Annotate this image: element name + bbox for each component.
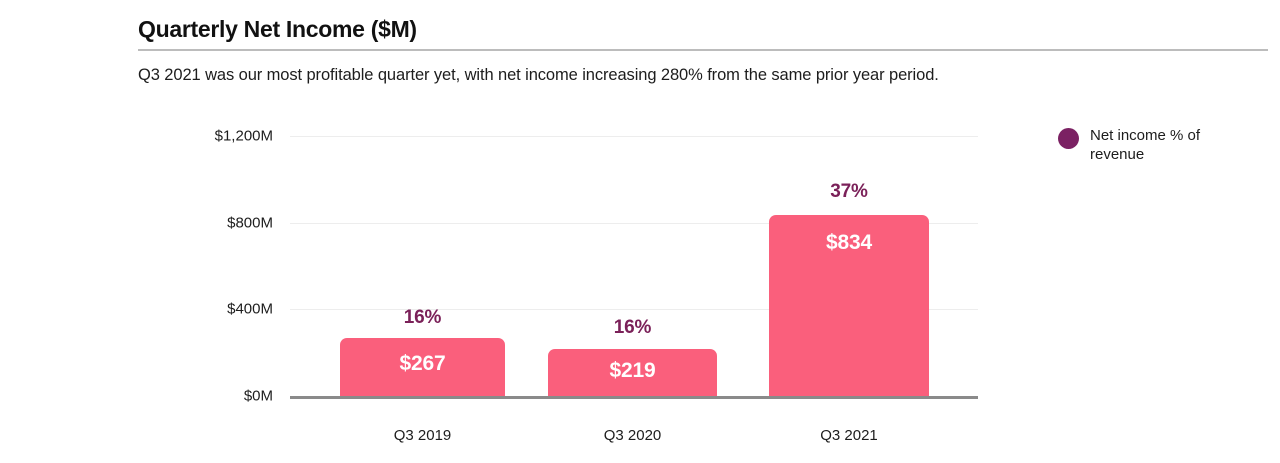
chart-legend: Net income % of revenue — [1058, 126, 1210, 164]
bar-percent-label: 16% — [548, 317, 717, 339]
title-divider — [138, 49, 1268, 51]
axis-baseline — [290, 396, 978, 399]
page-title: Quarterly Net Income ($M) — [138, 16, 417, 43]
bar-value-label: $834 — [769, 231, 929, 255]
bar-group: 16% $267 Q3 2019 — [340, 136, 505, 396]
x-tick-label: Q3 2020 — [518, 427, 747, 444]
chart-page: Quarterly Net Income ($M) Q3 2021 was ou… — [0, 0, 1280, 463]
legend-label: Net income % of revenue — [1090, 126, 1210, 164]
bar-percent-label: 16% — [340, 307, 505, 329]
y-axis: $1,200M $800M $400M $0M — [138, 136, 273, 396]
x-tick-label: Q3 2019 — [310, 427, 535, 444]
bar-value-label: $267 — [340, 352, 505, 376]
y-tick-label: $0M — [244, 388, 273, 405]
chart-subtitle: Q3 2021 was our most profitable quarter … — [138, 66, 939, 85]
bar[interactable]: $219 — [548, 349, 717, 396]
bar-percent-label: 37% — [769, 181, 929, 203]
bar-group: 37% $834 Q3 2021 — [769, 136, 929, 396]
bar[interactable]: $834 — [769, 215, 929, 396]
y-tick-label: $800M — [227, 214, 273, 231]
x-tick-label: Q3 2021 — [739, 427, 959, 444]
y-tick-label: $1,200M — [215, 128, 273, 145]
bar-group: 16% $219 Q3 2020 — [548, 136, 717, 396]
bar[interactable]: $267 — [340, 338, 505, 396]
y-tick-label: $400M — [227, 301, 273, 318]
legend-swatch-icon — [1058, 128, 1079, 149]
bar-value-label: $219 — [548, 359, 717, 383]
plot-area: 16% $267 Q3 2019 16% $219 Q3 2020 37% $8… — [290, 136, 978, 396]
